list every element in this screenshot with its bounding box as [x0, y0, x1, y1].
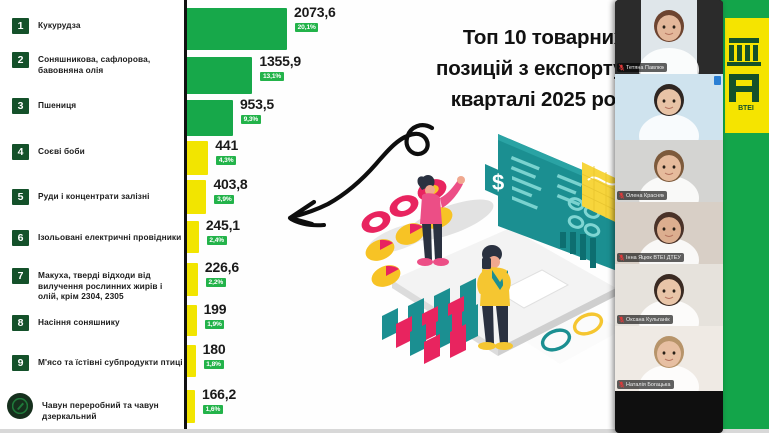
bar-share-badge: 3,9% [214, 195, 234, 204]
legend-rank-badge: 5 [12, 189, 29, 205]
mic-muted-icon [619, 254, 624, 261]
video-participant-tile[interactable]: Наталія Богацька [615, 326, 723, 391]
legend-item: 3Пшениця [12, 98, 184, 114]
participant-name: Олена Красняк [626, 193, 664, 199]
legend-item: 8Насіння соняшнику [12, 315, 184, 331]
bar [187, 180, 206, 214]
bar-value-label: 441 [215, 137, 238, 153]
legend-item: 2Соняшникова, сафлорова, бавовняна олія [12, 52, 184, 75]
bar-value-label: 180 [203, 341, 226, 357]
bar-share-badge: 1,8% [204, 360, 224, 369]
bar [187, 100, 233, 136]
bar [187, 390, 195, 423]
mic-muted-icon [619, 381, 624, 388]
bar-value-label: 2073,6 [294, 4, 336, 20]
bar [187, 345, 196, 377]
legend-rank-badge: 8 [12, 315, 29, 331]
legend-item: 4Соєві боби [12, 144, 184, 160]
bar-chart-row: 166,21,6% [187, 390, 417, 423]
video-participant-tile[interactable]: Інна Яцюк ВТЕІ ДТЕУ [615, 202, 723, 264]
data-analytics-illustration: $ [330, 120, 640, 385]
bar-value-label: 403,8 [213, 176, 247, 192]
legend-rank-badge: 4 [12, 144, 29, 160]
legend-rank-badge: 3 [12, 98, 29, 114]
legend-item: 9М'ясо та їстівні субпродукти птиці [12, 355, 184, 371]
bar-value-label: 953,5 [240, 96, 274, 112]
participant-name-plate: Оксана Кульганік [617, 315, 673, 324]
svg-text:ВТЕІ: ВТЕІ [738, 105, 754, 112]
university-logo-icon: ВТЕІ [725, 30, 767, 122]
participant-name-plate: Олена Красняк [617, 191, 667, 200]
bar-value-label: 226,6 [205, 259, 239, 275]
legend-item-label: Кукурудза [38, 18, 81, 31]
slide-screenshot: 1Кукурудза2Соняшникова, сафлорова, бавов… [0, 0, 769, 433]
video-participant-tile[interactable] [615, 74, 723, 140]
mic-muted-icon [619, 192, 624, 199]
bar-share-badge: 20,1% [295, 23, 318, 32]
legend-item: 5Руди і концентрати залізні [12, 189, 184, 205]
bar [187, 263, 198, 296]
bar [187, 141, 208, 175]
svg-text:$: $ [492, 170, 504, 195]
legend-item-label: Соняшникова, сафлорова, бавовняна олія [38, 52, 184, 75]
bar-value-label: 1355,9 [259, 53, 301, 69]
network-indicator-icon [714, 76, 721, 85]
mic-muted-icon [619, 316, 624, 323]
legend-item: 6Ізольовані електричні провідники [12, 230, 184, 246]
participant-name: Оксана Кульганік [626, 317, 670, 323]
bar-share-badge: 1,9% [205, 320, 225, 329]
bar-share-badge: 13,1% [260, 72, 283, 81]
legend-item-label: Чавун переробний та чавун дзеркальний [42, 398, 184, 421]
chart-legend-list: 1Кукурудза2Соняшникова, сафлорова, бавов… [0, 0, 185, 429]
participant-name: Тетяна Павлюк [626, 65, 664, 71]
legend-rank-badge: 2 [12, 52, 29, 68]
legend-item: 1Кукурудза [12, 18, 184, 34]
bar [187, 8, 287, 50]
brand-strip: ВТЕІ [719, 0, 769, 429]
video-participant-tile[interactable]: Тетяна Павлюк [615, 0, 723, 74]
legend-item-label: М'ясо та їстівні субпродукти птиці [38, 355, 183, 368]
legend-rank-badge: 6 [12, 230, 29, 246]
legend-item-label: Руди і концентрати залізні [38, 189, 150, 202]
legend-rank-badge [7, 393, 33, 419]
participant-name: Інна Яцюк ВТЕІ ДТЕУ [626, 255, 681, 261]
participant-name-plate: Інна Яцюк ВТЕІ ДТЕУ [617, 253, 684, 262]
bar-value-label: 166,2 [202, 386, 236, 402]
bar [187, 221, 199, 253]
bar-share-badge: 4,3% [216, 156, 236, 165]
participant-name-plate: Наталія Богацька [617, 380, 674, 389]
bar-chart-row: 1355,913,1% [187, 57, 417, 94]
video-call-participants-panel[interactable]: Тетяна ПавлюкОлена КраснякІнна Яцюк ВТЕІ… [615, 0, 723, 433]
legend-rank-badge: 1 [12, 18, 29, 34]
bar-share-badge: 2,2% [206, 278, 226, 287]
legend-item-label: Соєві боби [38, 144, 85, 157]
legend-item: 7Макуха, тверді відходи від вилучення ро… [12, 268, 184, 302]
bar-value-label: 245,1 [206, 217, 240, 233]
legend-item-label: Макуха, тверді відходи від вилучення рос… [38, 268, 184, 302]
mic-muted-icon [619, 64, 624, 71]
legend-rank-badge: 9 [12, 355, 29, 371]
bar-value-label: 199 [204, 301, 227, 317]
bar [187, 57, 252, 94]
participant-video-frame [615, 74, 723, 140]
bar-chart-row: 2073,620,1% [187, 8, 417, 50]
participant-name: Наталія Богацька [626, 382, 671, 388]
legend-item: Чавун переробний та чавун дзеркальний [12, 398, 184, 421]
legend-item-label: Пшениця [38, 98, 76, 111]
legend-item-label: Ізольовані електричні провідники [38, 230, 181, 243]
legend-rank-badge: 7 [12, 268, 29, 284]
bar-share-badge: 1,6% [203, 405, 223, 414]
legend-item-label: Насіння соняшнику [38, 315, 120, 328]
bar-share-badge: 2,4% [207, 236, 227, 245]
video-participant-tile[interactable]: Оксана Кульганік [615, 264, 723, 326]
bar [187, 305, 197, 336]
pen-edit-icon [12, 398, 28, 414]
participant-name-plate: Тетяна Павлюк [617, 63, 667, 72]
video-participant-tile[interactable]: Олена Красняк [615, 140, 723, 202]
